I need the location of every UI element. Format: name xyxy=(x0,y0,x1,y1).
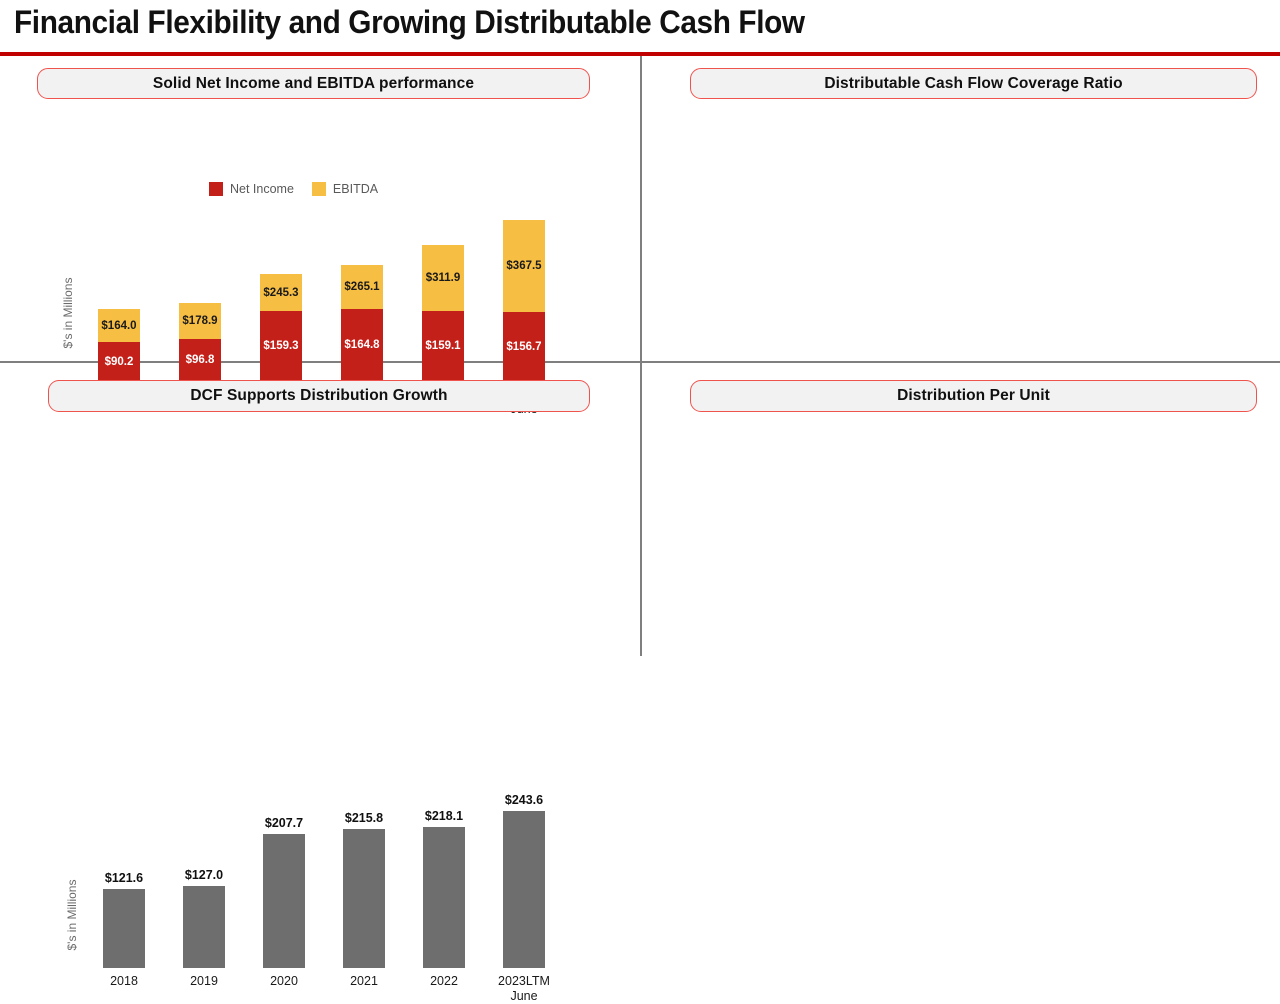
panel-coverage-ratio: Distributable Cash Flow Coverage Ratio 1… xyxy=(642,56,1280,362)
bar-segment-ebitda: $265.1 xyxy=(341,265,383,309)
bar-group: $207.72020 xyxy=(263,800,305,968)
bar-group: $245.3$159.32020 xyxy=(260,206,302,381)
bar-segment-ebitda: $245.3 xyxy=(260,274,302,311)
bar-segment xyxy=(263,834,305,968)
y-axis-title-net-income: $'s in Millions xyxy=(61,263,75,363)
bar-segment xyxy=(183,886,225,968)
segment-value-label-ebitda: $164.0 xyxy=(101,320,136,332)
legend-swatch-net-income-icon xyxy=(209,182,223,196)
page-title: Financial Flexibility and Growing Distri… xyxy=(14,4,805,41)
bar-segment xyxy=(343,829,385,968)
bar: $127.0 xyxy=(183,886,225,968)
bar-group: $367.5$156.72023LTMJune xyxy=(503,206,545,381)
bar: $218.1 xyxy=(423,827,465,968)
panel-title-label: Solid Net Income and EBITDA performance xyxy=(153,75,474,93)
bar-segment xyxy=(503,811,545,968)
bar-group: $164.0$90.22018 xyxy=(98,206,140,381)
bar-segment-ebitda: $311.9 xyxy=(422,245,464,311)
chart-legend: Net Income EBITDA xyxy=(209,182,378,196)
segment-value-label-net-income: $156.7 xyxy=(506,341,541,353)
segment-value-label-ebitda: $311.9 xyxy=(426,272,461,284)
bar-group: $121.62018 xyxy=(103,800,145,968)
segment-value-label-net-income: $164.8 xyxy=(344,339,379,351)
segment-value-label-net-income: $159.1 xyxy=(425,340,460,352)
bar-segment-ebitda: $178.9 xyxy=(179,303,221,339)
panel-net-income-ebitda: Solid Net Income and EBITDA performance … xyxy=(0,56,640,362)
panel-title-label: Distributable Cash Flow Coverage Ratio xyxy=(824,75,1122,93)
bar: $121.6 xyxy=(103,889,145,968)
panel-title-dcf: DCF Supports Distribution Growth xyxy=(48,380,590,412)
legend-entry-net-income: Net Income xyxy=(209,182,294,196)
bar-segment-ebitda: $367.5 xyxy=(503,220,545,312)
legend-swatch-ebitda-icon xyxy=(312,182,326,196)
bar-category-label: 2023LTMJune xyxy=(454,974,594,1004)
panel-dcf-growth: DCF Supports Distribution Growth $'s in … xyxy=(0,363,640,656)
segment-value-label-ebitda: $178.9 xyxy=(182,315,217,327)
bar-segment xyxy=(423,827,465,968)
bar-value-label: $218.1 xyxy=(374,809,514,823)
bar-value-label: $243.6 xyxy=(454,793,594,807)
bar-value-label: $127.0 xyxy=(134,868,274,882)
legend-label-net-income: Net Income xyxy=(230,182,294,196)
panel-title-label: DCF Supports Distribution Growth xyxy=(190,387,447,405)
bar: $207.7 xyxy=(263,834,305,968)
bar-segment xyxy=(103,889,145,968)
bar-group: $178.9$96.82019 xyxy=(179,206,221,381)
bar-group: $243.62023LTMJune xyxy=(503,800,545,968)
bar: $215.8 xyxy=(343,829,385,968)
bar-group: $218.12022 xyxy=(423,800,465,968)
bar-segment-ebitda: $164.0 xyxy=(98,309,140,342)
bar-group: $311.9$159.12022 xyxy=(422,206,464,381)
panel-title-coverage: Distributable Cash Flow Coverage Ratio xyxy=(690,68,1257,99)
bar-group: $215.82021 xyxy=(343,800,385,968)
segment-value-label-ebitda: $245.3 xyxy=(263,287,298,299)
panel-title-dpu: Distribution Per Unit xyxy=(690,380,1257,412)
panel-title-net-income: Solid Net Income and EBITDA performance xyxy=(37,68,590,99)
legend-entry-ebitda: EBITDA xyxy=(312,182,378,196)
chart-dcf-growth: $121.62018$127.02019$207.72020$215.82021… xyxy=(95,800,585,968)
bar: $243.6 xyxy=(503,811,545,968)
panel-title-label: Distribution Per Unit xyxy=(897,387,1050,405)
segment-value-label-ebitda: $265.1 xyxy=(344,281,379,293)
segment-value-label-ebitda: $367.5 xyxy=(506,260,541,272)
stacked-bar: $311.9$159.1 xyxy=(422,245,464,381)
chart-net-income-ebitda: $164.0$90.22018$178.9$96.82019$245.3$159… xyxy=(88,206,593,381)
legend-label-ebitda: EBITDA xyxy=(333,182,378,196)
segment-value-label-net-income: $159.3 xyxy=(263,340,298,352)
stacked-bar: $367.5$156.7 xyxy=(503,220,545,381)
bar-group: $265.1$164.82021 xyxy=(341,206,383,381)
panel-distribution-per-unit: Distribution Per Unit $0.9852Q22$0.9903Q… xyxy=(642,363,1280,656)
page-header: Financial Flexibility and Growing Distri… xyxy=(0,0,1280,56)
